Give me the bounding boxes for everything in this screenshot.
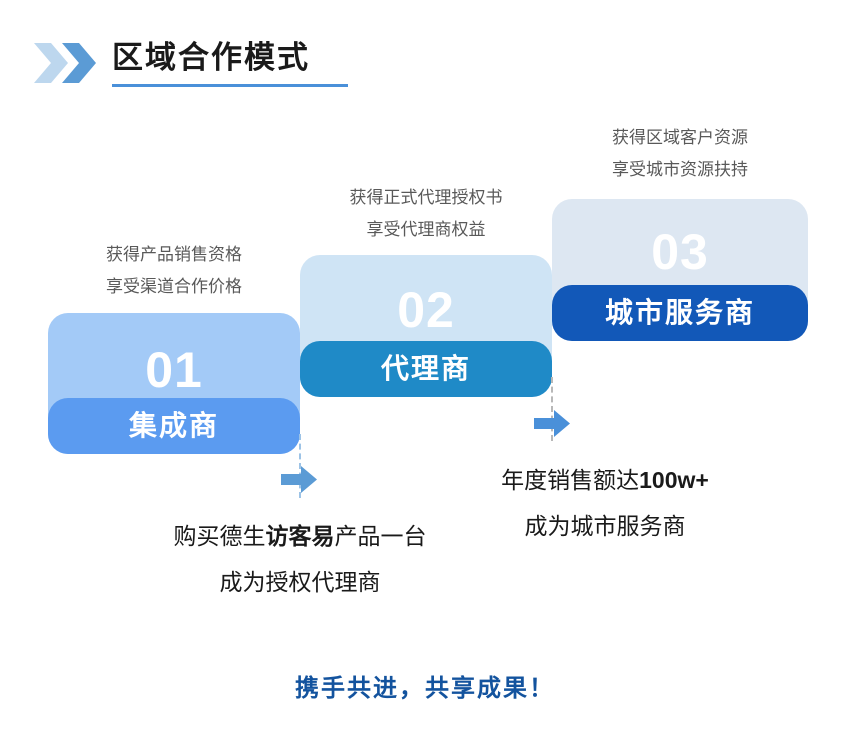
step-number: 01 bbox=[48, 345, 300, 395]
step-benefits-02: 获得正式代理授权书 享受代理商权益 bbox=[300, 182, 552, 246]
transition-requirement-1: 购买德生访客易产品一台 成为授权代理商 bbox=[135, 513, 465, 605]
step-card-02[interactable]: 02 代理商 bbox=[300, 255, 552, 397]
requirement-suffix: 产品一台 bbox=[335, 523, 427, 549]
step-role-bar: 城市服务商 bbox=[552, 285, 808, 341]
step-benefit-line: 获得正式代理授权书 bbox=[300, 182, 552, 214]
step-benefit-line: 享受渠道合作价格 bbox=[48, 271, 300, 303]
transition-requirement-2: 年度销售额达100w+ 成为城市服务商 bbox=[440, 457, 770, 549]
transition-result-line: 成为城市服务商 bbox=[440, 503, 770, 549]
arrow-right-icon bbox=[534, 410, 570, 437]
step-role-bar: 代理商 bbox=[300, 341, 552, 397]
title-underline bbox=[112, 84, 348, 87]
page-title-text: 区域合作模式 bbox=[112, 38, 310, 78]
transition-result-line: 成为授权代理商 bbox=[135, 559, 465, 605]
step-benefit-line: 享受城市资源扶持 bbox=[552, 154, 808, 186]
requirement-prefix: 年度销售额达 bbox=[501, 467, 639, 493]
step-number: 03 bbox=[552, 227, 808, 277]
requirement-emphasis: 100w+ bbox=[639, 467, 709, 493]
step-role-bar: 集成商 bbox=[48, 398, 300, 454]
step-benefits-03: 获得区域客户资源 享受城市资源扶持 bbox=[552, 122, 808, 186]
infographic-canvas: 区域合作模式 获得产品销售资格 享受渠道合作价格 01 集成商 获得正式代理授权… bbox=[0, 0, 850, 737]
step-card-01[interactable]: 01 集成商 bbox=[48, 313, 300, 454]
header: 区域合作模式 bbox=[0, 0, 850, 110]
step-benefit-line: 享受代理商权益 bbox=[300, 214, 552, 246]
step-benefit-line: 获得产品销售资格 bbox=[48, 239, 300, 271]
step-card-03[interactable]: 03 城市服务商 bbox=[552, 199, 808, 341]
step-role-label: 城市服务商 bbox=[552, 299, 808, 327]
header-chevrons bbox=[34, 43, 110, 83]
chevron-right-icon bbox=[62, 43, 96, 83]
transition-requirement-line: 购买德生访客易产品一台 bbox=[135, 513, 465, 559]
step-benefit-line: 获得区域客户资源 bbox=[552, 122, 808, 154]
step-number: 02 bbox=[300, 285, 552, 335]
footer-slogan: 携手共进，共享成果！ bbox=[0, 668, 850, 703]
step-role-label: 集成商 bbox=[48, 412, 300, 440]
page-title: 区域合作模式 bbox=[112, 38, 310, 78]
step-role-label: 代理商 bbox=[300, 355, 552, 383]
step-benefits-01: 获得产品销售资格 享受渠道合作价格 bbox=[48, 239, 300, 303]
arrow-right-icon bbox=[281, 466, 317, 493]
transition-requirement-line: 年度销售额达100w+ bbox=[440, 457, 770, 503]
requirement-prefix: 购买德生 bbox=[174, 523, 266, 549]
requirement-emphasis: 访客易 bbox=[266, 523, 335, 549]
